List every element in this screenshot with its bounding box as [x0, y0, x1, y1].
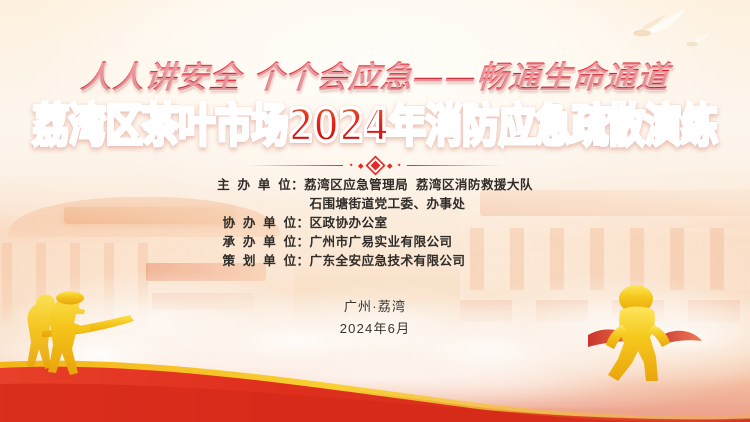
organizer-colon: ：: [297, 252, 310, 271]
diamond-ornament-icon: [367, 158, 383, 174]
organizer-label: 协办单位: [223, 214, 297, 233]
footer-location: 广州·荔湾: [0, 296, 750, 318]
divider-line-right: [407, 165, 502, 167]
poster-slogan: 人人讲安全 个个会应急——畅通生命通道: [0, 52, 750, 97]
organizer-label: 主办单位: [217, 176, 291, 195]
organizer-row: 主办单位 ： 荔湾区应急管理局 荔湾区消防救援大队: [0, 176, 750, 195]
organizer-row: 主办单位 ： 石围塘街道党工委、办事处: [0, 195, 750, 214]
poster-banner: 人人讲安全 个个会应急——畅通生命通道 荔湾区茶叶市场2024年消防应急疏散演练…: [0, 0, 750, 422]
footer-date: 2024年6月: [0, 318, 750, 340]
diamond-ornament-icon: [387, 163, 392, 168]
diamond-ornament-icon: [398, 164, 401, 167]
diamond-ornament-icon: [358, 163, 363, 168]
divider-ornament: [0, 160, 750, 171]
organizer-row: 策划单位 ： 广东全安应急技术有限公司: [0, 252, 750, 271]
divider-line-left: [248, 165, 343, 167]
organizer-value: 石围塘街道党工委、办事处: [310, 195, 528, 214]
organizer-row: 协办单位 ： 区政协办公室: [0, 214, 750, 233]
page-title: 荔湾区茶叶市场2024年消防应急疏散演练: [0, 103, 750, 148]
organizer-colon: ：: [297, 214, 310, 233]
organizer-value: 广州市广易实业有限公司: [310, 233, 528, 252]
organizer-row: 承办单位 ： 广州市广易实业有限公司: [0, 233, 750, 252]
organizer-value: 区政协办公室: [310, 214, 528, 233]
footer-block: 广州·荔湾 2024年6月: [0, 296, 750, 340]
organizer-colon: ：: [291, 176, 304, 195]
organizer-colon: ：: [297, 233, 310, 252]
organizer-value: 荔湾区应急管理局 荔湾区消防救援大队: [304, 176, 533, 195]
organizer-label: 承办单位: [223, 233, 297, 252]
diamond-ornament-icon: [349, 164, 352, 167]
organizer-label: 策划单位: [223, 252, 297, 271]
organizer-value: 广东全安应急技术有限公司: [310, 252, 528, 271]
organizer-block: 主办单位 ： 荔湾区应急管理局 荔湾区消防救援大队 主办单位 ： 石围塘街道党工…: [0, 176, 750, 271]
